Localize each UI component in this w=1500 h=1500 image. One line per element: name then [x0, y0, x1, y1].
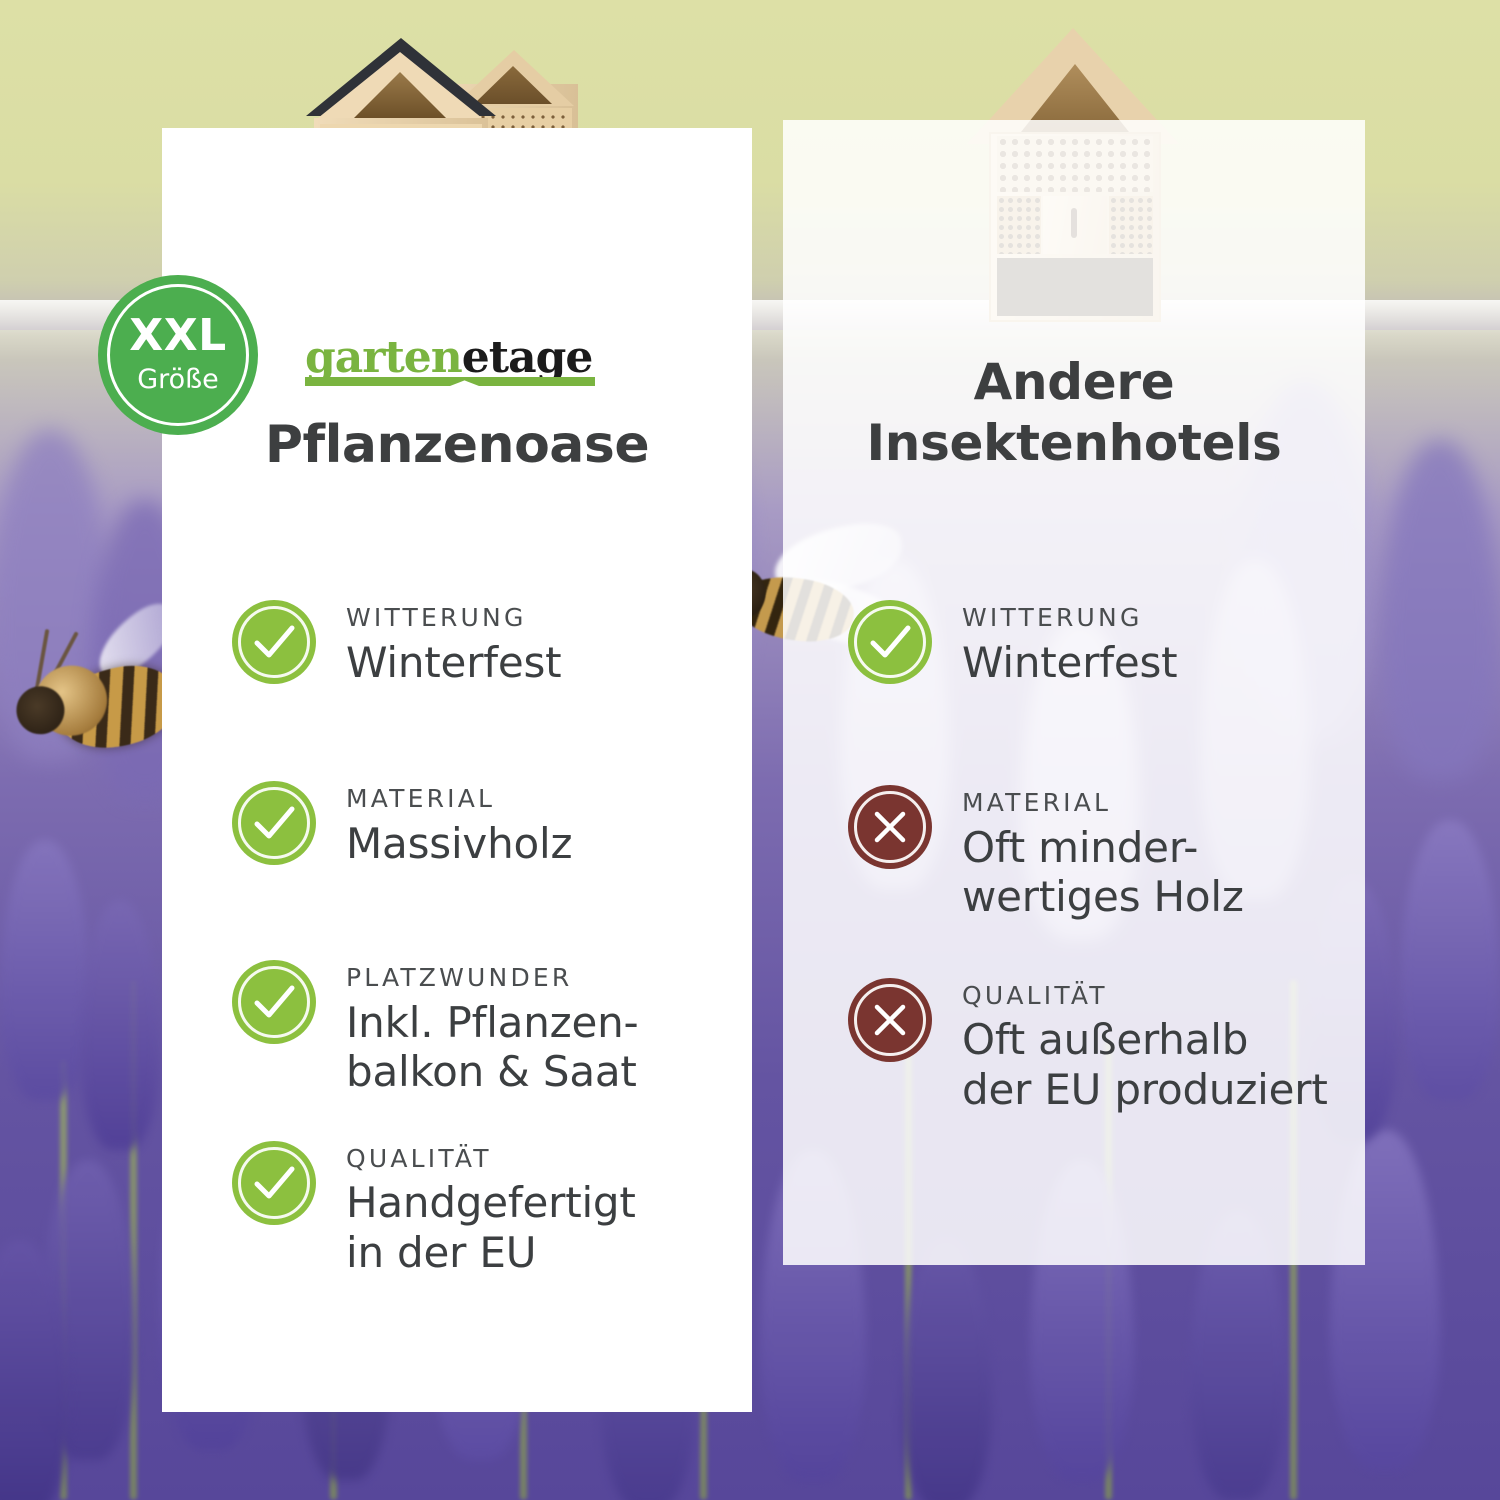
feature-label: MATERIAL	[346, 785, 572, 813]
feature-value-line: Handgefertigt	[346, 1178, 636, 1228]
feature-text: WITTERUNG Winterfest	[962, 600, 1177, 687]
feature-label: PLATZWUNDER	[346, 964, 639, 992]
logo-part-garten: garten	[305, 332, 462, 383]
check-icon	[232, 781, 316, 865]
page-title-right: Andere Insektenhotels	[783, 352, 1365, 474]
feature-value-line: Inkl. Pflanzen-	[346, 998, 639, 1048]
badge-line1: XXL	[129, 314, 226, 358]
cross-icon	[848, 978, 932, 1062]
feature-value: Massivholz	[346, 819, 572, 869]
feature-label: MATERIAL	[962, 789, 1244, 817]
check-icon	[232, 600, 316, 684]
feature-value-line: in der EU	[346, 1228, 636, 1278]
feature-value-line: Winterfest	[962, 638, 1177, 688]
feature-value-line: Oft außerhalb	[962, 1015, 1328, 1065]
feature-value: Handgefertigt in der EU	[346, 1178, 636, 1277]
xxl-size-badge: XXL Größe	[98, 275, 258, 435]
feature-row: QUALITÄT Oft außerhalb der EU produziert	[848, 978, 1348, 1115]
feature-row: WITTERUNG Winterfest	[848, 600, 1348, 687]
feature-text: QUALITÄT Oft außerhalb der EU produziert	[962, 978, 1328, 1115]
feature-text: PLATZWUNDER Inkl. Pflanzen- balkon & Saa…	[346, 960, 639, 1097]
feature-list-right: WITTERUNG Winterfest MATERIAL Oft minder…	[848, 600, 1348, 1114]
page-title-right-line2: Insektenhotels	[783, 413, 1365, 474]
page-title-left: Pflanzenoase	[162, 415, 752, 475]
feature-value: Oft außerhalb der EU produziert	[962, 1015, 1328, 1114]
page-title-right-line1: Andere	[783, 352, 1365, 413]
feature-value-line: Oft minder-	[962, 823, 1244, 873]
feature-row: PLATZWUNDER Inkl. Pflanzen- balkon & Saa…	[232, 960, 702, 1097]
cross-icon	[848, 785, 932, 869]
check-icon	[848, 600, 932, 684]
feature-value-line: Massivholz	[346, 819, 572, 869]
logo-wordmark: gartenetage	[305, 332, 592, 383]
feature-value-line: Winterfest	[346, 638, 561, 688]
brand-logo: gartenetage	[305, 332, 595, 386]
feature-row: MATERIAL Massivholz	[232, 781, 702, 868]
feature-value-line: der EU produziert	[962, 1065, 1328, 1115]
feature-row: WITTERUNG Winterfest	[232, 600, 702, 687]
feature-value: Winterfest	[962, 638, 1177, 688]
check-icon	[232, 1141, 316, 1225]
feature-value-line: wertiges Holz	[962, 872, 1244, 922]
feature-label: WITTERUNG	[962, 604, 1177, 632]
feature-text: MATERIAL Oft minder- wertiges Holz	[962, 785, 1244, 922]
feature-text: QUALITÄT Handgefertigt in der EU	[346, 1141, 636, 1278]
feature-value: Oft minder- wertiges Holz	[962, 823, 1244, 922]
feature-text: WITTERUNG Winterfest	[346, 600, 561, 687]
feature-list-left: WITTERUNG Winterfest MATERIAL Massivholz	[232, 600, 702, 1277]
feature-row: MATERIAL Oft minder- wertiges Holz	[848, 785, 1348, 922]
infographic-canvas: XXL Größe gartenetage Pflanzenoase Ander…	[0, 0, 1500, 1500]
feature-row: QUALITÄT Handgefertigt in der EU	[232, 1141, 702, 1278]
feature-value: Inkl. Pflanzen- balkon & Saat	[346, 998, 639, 1097]
feature-value: Winterfest	[346, 638, 561, 688]
feature-label: QUALITÄT	[962, 982, 1328, 1010]
feature-value-line: balkon & Saat	[346, 1047, 639, 1097]
feature-text: MATERIAL Massivholz	[346, 781, 572, 868]
logo-underline-bar	[305, 377, 595, 386]
logo-part-etage: etage	[462, 332, 593, 383]
feature-label: QUALITÄT	[346, 1145, 636, 1173]
check-icon	[232, 960, 316, 1044]
feature-label: WITTERUNG	[346, 604, 561, 632]
